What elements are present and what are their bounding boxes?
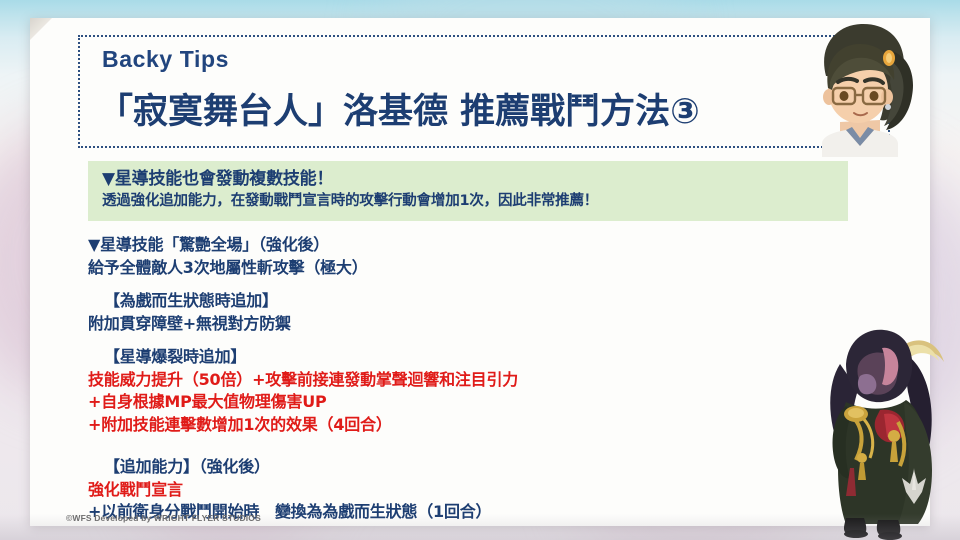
- slide-stage: Backy Tips 「寂寞舞台人」洛基德 推薦戰鬥方法③: [0, 0, 960, 540]
- highlight-panel: ▼星導技能也會發動複數技能！ 透過強化追加能力，在發動戰鬥宣言時的攻擊行動會增加…: [88, 161, 848, 221]
- section-line: 強化戰鬥宣言: [88, 479, 491, 502]
- section-line: 附加貫穿障壁+無視對方防禦: [88, 313, 291, 336]
- section-line: +附加技能連擊數增加1次的效果（4回合）: [88, 414, 518, 437]
- section-heading: 【追加能力】（強化後）: [88, 456, 491, 479]
- section-heading: 【為戲而生狀態時追加】: [88, 290, 291, 313]
- highlight-line-2: 透過強化追加能力，在發動戰鬥宣言時的攻擊行動會增加1次，因此非常推薦！: [102, 191, 848, 211]
- section-line: 給予全體敵人3次地屬性斬攻擊（極大）: [88, 257, 368, 280]
- page-title: 「寂寞舞台人」洛基德 推薦戰鬥方法③: [98, 83, 700, 134]
- section-stage-state: 【為戲而生狀態時追加】 附加貫穿障壁+無視對方防禦: [88, 290, 291, 335]
- section-heading: 【星導爆裂時追加】: [88, 346, 518, 369]
- content-card: Backy Tips 「寂寞舞台人」洛基德 推薦戰鬥方法③: [30, 18, 930, 526]
- highlight-line-1: ▼星導技能也會發動複數技能！: [102, 168, 848, 191]
- chibi-character-dark-coat-horns-icon: [806, 318, 956, 540]
- eyebrow-label: Backy Tips: [102, 46, 229, 73]
- section-line: 技能威力提升（50倍）+攻擊前接連發動掌聲迴響和注目引力: [88, 369, 518, 392]
- section-line: +自身根據MP最大值物理傷害UP: [88, 391, 518, 414]
- title-box: Backy Tips 「寂寞舞台人」洛基德 推薦戰鬥方法③: [78, 35, 890, 148]
- copyright-notice: ©WFS Developed by WRIGHT FLYER STUDIOS: [66, 513, 261, 523]
- section-line: ▼星導技能「驚艷全場」（強化後）: [88, 234, 368, 257]
- chibi-character-glasses-ponytail-icon: [788, 12, 933, 157]
- section-star-skill: ▼星導技能「驚艷全場」（強化後） 給予全體敵人3次地屬性斬攻擊（極大）: [88, 234, 368, 279]
- section-star-burst: 【星導爆裂時追加】 技能威力提升（50倍）+攻擊前接連發動掌聲迴響和注目引力 +…: [88, 346, 518, 437]
